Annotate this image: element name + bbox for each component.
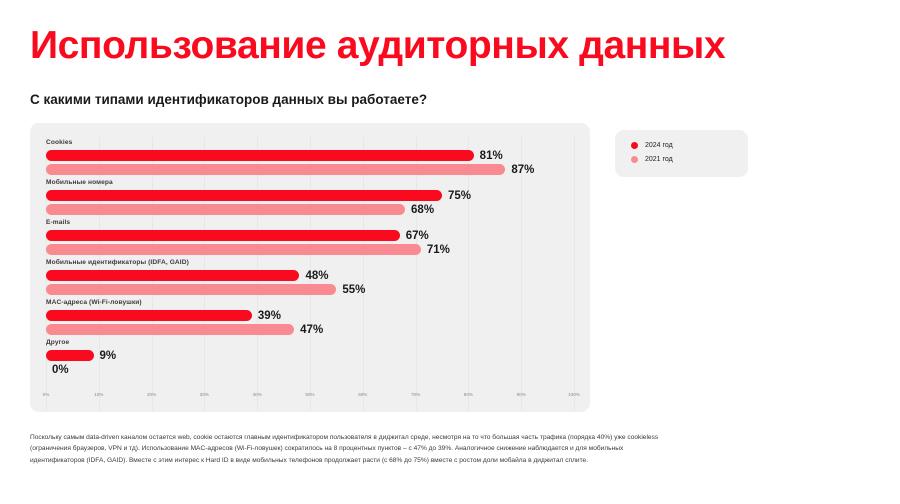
page-title: Использование аудиторных данных (30, 26, 725, 67)
bar-group: Другое9%0% (46, 339, 574, 379)
legend-swatch-icon (631, 156, 638, 163)
bar[interactable] (46, 270, 299, 281)
bar[interactable] (46, 310, 252, 321)
slide-root: Использование аудиторных данных С какими… (0, 0, 900, 504)
x-axis-tick-label: 80% (464, 392, 473, 397)
legend-item-2021[interactable]: 2021 год (631, 156, 673, 163)
x-axis: 0%10%20%30%40%50%60%70%80%90%100% (46, 392, 574, 404)
bar[interactable] (46, 204, 405, 215)
bar-row: 87% (46, 164, 574, 175)
bar[interactable] (46, 324, 294, 335)
footnote-text: Поскольку самым data-driven каналом оста… (30, 432, 666, 466)
bar-row: 55% (46, 284, 574, 295)
bar-value-label: 81% (480, 150, 503, 162)
bar-group: Мобильные идентификаторы (IDFA, GAID)48%… (46, 259, 574, 299)
bar[interactable] (46, 190, 442, 201)
bar-row: 67% (46, 230, 574, 241)
legend-item-2024[interactable]: 2024 год (631, 142, 673, 149)
bar[interactable] (46, 150, 474, 161)
bar-value-label: 68% (411, 204, 434, 216)
bar-group-label: Мобильные номера (46, 179, 113, 186)
bar-value-label: 0% (52, 364, 69, 376)
x-axis-tick-label: 30% (200, 392, 209, 397)
bar-row: 81% (46, 150, 574, 161)
bar-group: E-mails67%71% (46, 219, 574, 259)
x-axis-tick-label: 60% (358, 392, 367, 397)
bar-group-label: Другое (46, 339, 69, 346)
bar-value-label: 75% (448, 190, 471, 202)
gridline (574, 137, 575, 410)
bar-group: Мобильные номера75%68% (46, 179, 574, 219)
x-axis-tick-label: 50% (305, 392, 314, 397)
bar-value-label: 39% (258, 310, 281, 322)
bar-group: Cookies81%87% (46, 139, 574, 179)
bar-value-label: 47% (300, 324, 323, 336)
bar-row: 39% (46, 310, 574, 321)
bar-value-label: 9% (100, 350, 117, 362)
bar[interactable] (46, 164, 505, 175)
bar-row: 68% (46, 204, 574, 215)
bar[interactable] (46, 230, 400, 241)
bar-group-label: Мобильные идентификаторы (IDFA, GAID) (46, 259, 189, 266)
chart-legend: 2024 год 2021 год (615, 130, 748, 177)
x-axis-tick-label: 20% (147, 392, 156, 397)
bar[interactable] (46, 244, 421, 255)
bar-row: 48% (46, 270, 574, 281)
bar-group-label: Cookies (46, 139, 72, 146)
bar[interactable] (46, 284, 336, 295)
legend-label: 2021 год (645, 156, 673, 163)
legend-swatch-icon (631, 142, 638, 149)
bar-group-label: MAC-адреса (Wi-Fi-ловушки) (46, 299, 142, 306)
x-axis-tick-label: 40% (253, 392, 262, 397)
bar-group: MAC-адреса (Wi-Fi-ловушки)39%47% (46, 299, 574, 339)
bar-row: 71% (46, 244, 574, 255)
bar-groups: Cookies81%87%Мобильные номера75%68%E-mai… (46, 137, 574, 384)
bar-row: 0% (46, 364, 574, 375)
bar-row: 9% (46, 350, 574, 361)
x-axis-tick-label: 70% (411, 392, 420, 397)
plot-area: Cookies81%87%Мобильные номера75%68%E-mai… (46, 137, 574, 384)
x-axis-tick-label: 100% (568, 392, 580, 397)
legend-label: 2024 год (645, 142, 673, 149)
bar-value-label: 87% (511, 164, 534, 176)
bar-row: 47% (46, 324, 574, 335)
bar-value-label: 67% (406, 230, 429, 242)
chart-panel: Cookies81%87%Мобильные номера75%68%E-mai… (30, 123, 590, 412)
chart-subtitle: С какими типами идентификаторов данных в… (30, 92, 427, 107)
bar-value-label: 71% (427, 244, 450, 256)
bar-row: 75% (46, 190, 574, 201)
x-axis-tick-label: 0% (43, 392, 50, 397)
x-axis-tick-label: 10% (94, 392, 103, 397)
bar-group-label: E-mails (46, 219, 70, 226)
bar[interactable] (46, 350, 94, 361)
x-axis-tick-label: 90% (517, 392, 526, 397)
bar-value-label: 55% (342, 284, 365, 296)
bar-value-label: 48% (305, 270, 328, 282)
